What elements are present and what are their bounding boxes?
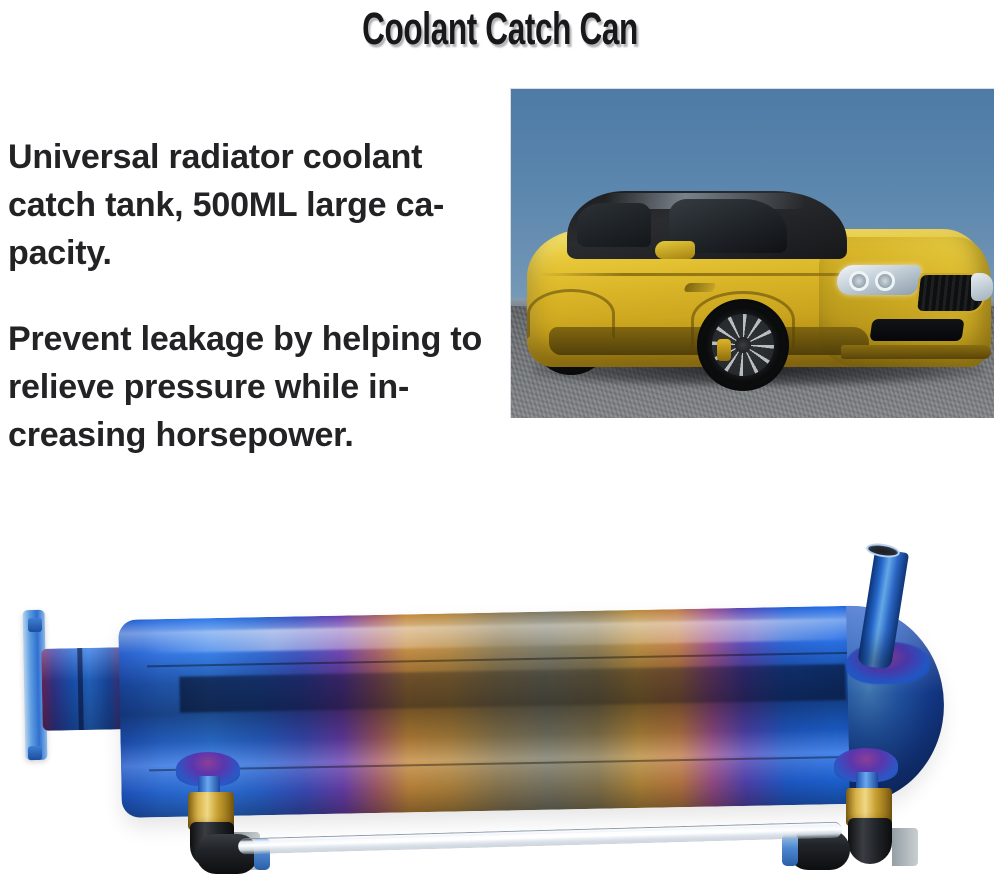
black-elbow-vertical [848,818,892,864]
side-mirror [655,241,695,259]
brass-nut-shadow [892,828,918,866]
fitting-left [162,752,274,872]
tank-reflection-band [179,664,846,713]
rear-side-window [577,203,651,247]
front-hub [735,337,751,353]
halo-ring-inner [849,271,869,291]
left-neck-cap [41,647,129,731]
header-banner: Coolant Catch Can [0,0,1000,58]
front-splitter [841,345,991,359]
flange-tab-top [28,618,42,632]
flange-tab-bottom [28,746,42,760]
feature-paragraph-1: Universal radiator coolant catch tank, 5… [8,133,488,277]
headlight-right [971,273,993,301]
rear-wheel-arch [527,289,615,339]
fitting-right [820,748,932,868]
brake-caliper [717,339,731,361]
fender-vent [683,283,717,292]
feature-text-block: Universal radiator coolant catch tank, 5… [8,133,488,459]
front-bumper-vent [869,319,964,341]
hero-car-photo [510,88,994,418]
feature-paragraph-2: Prevent leakage by helping to relieve pr… [8,315,488,459]
halo-ring-outer [875,271,895,291]
front-wheel [697,299,789,391]
product-photo-catch-can [0,500,1000,884]
page-title: Coolant Catch Can [362,6,638,52]
car-illustration [519,177,994,399]
tank-highlight [142,617,870,653]
